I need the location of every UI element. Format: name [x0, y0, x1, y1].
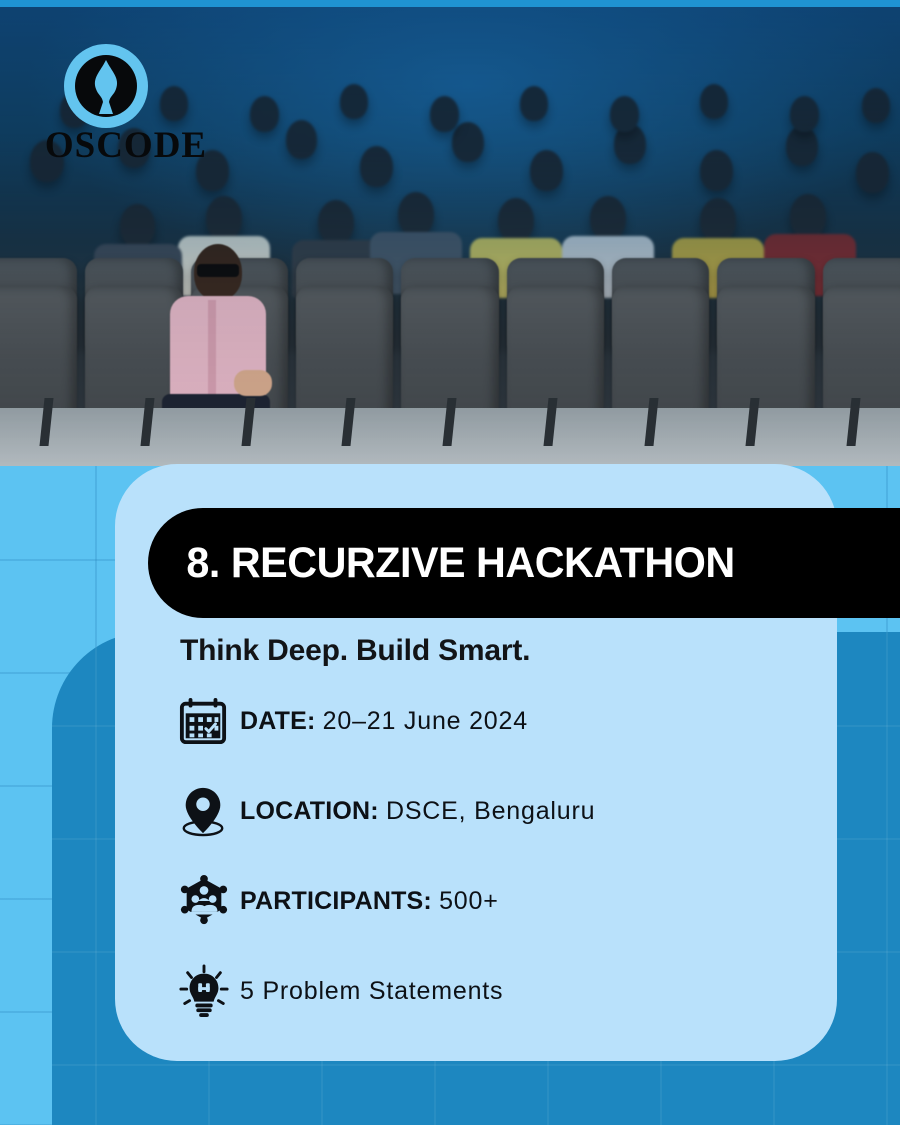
detail-value-participants: 500+: [439, 887, 499, 915]
detail-text-location: LOCATION: DSCE, Bengaluru: [240, 797, 595, 826]
event-poster: OSCODE 8. RECURZIVE HACKATHON Think Deep…: [0, 0, 900, 1125]
detail-label-date: DATE:: [240, 707, 323, 735]
detail-row-date: DATE: 20–21 June 2024: [178, 690, 778, 752]
title-banner: 8. RECURZIVE HACKATHON: [148, 508, 900, 618]
event-details-list: DATE: 20–21 June 2024 LOCATION: DSCE, Be…: [178, 690, 778, 1022]
tagline: Think Deep. Build Smart.: [180, 634, 530, 668]
detail-row-problem-statements: 5 Problem Statements: [178, 960, 778, 1022]
detail-label-location: LOCATION:: [240, 797, 386, 825]
participants-group-icon: [178, 872, 240, 930]
photo-top-accent-line: [0, 0, 900, 7]
oscode-logo: OSCODE: [36, 44, 216, 164]
location-pin-icon: [178, 782, 240, 840]
lightbulb-idea-icon: [178, 962, 240, 1020]
detail-text-participants: PARTICIPANTS: 500+: [240, 887, 499, 916]
calendar-icon: [178, 692, 240, 750]
oscode-wordmark: OSCODE: [36, 124, 216, 167]
detail-text-date: DATE: 20–21 June 2024: [240, 707, 528, 736]
detail-value-date: 20–21 June 2024: [323, 707, 528, 735]
page-title: 8. RECURZIVE HACKATHON: [148, 539, 735, 588]
detail-row-location: LOCATION: DSCE, Bengaluru: [178, 780, 778, 842]
detail-label-participants: PARTICIPANTS:: [240, 887, 439, 915]
oscode-flame-circle-icon: [64, 44, 148, 128]
detail-row-participants: PARTICIPANTS: 500+: [178, 870, 778, 932]
detail-value-location: DSCE, Bengaluru: [386, 797, 595, 825]
detail-value-problem-statements: 5 Problem Statements: [240, 977, 503, 1006]
